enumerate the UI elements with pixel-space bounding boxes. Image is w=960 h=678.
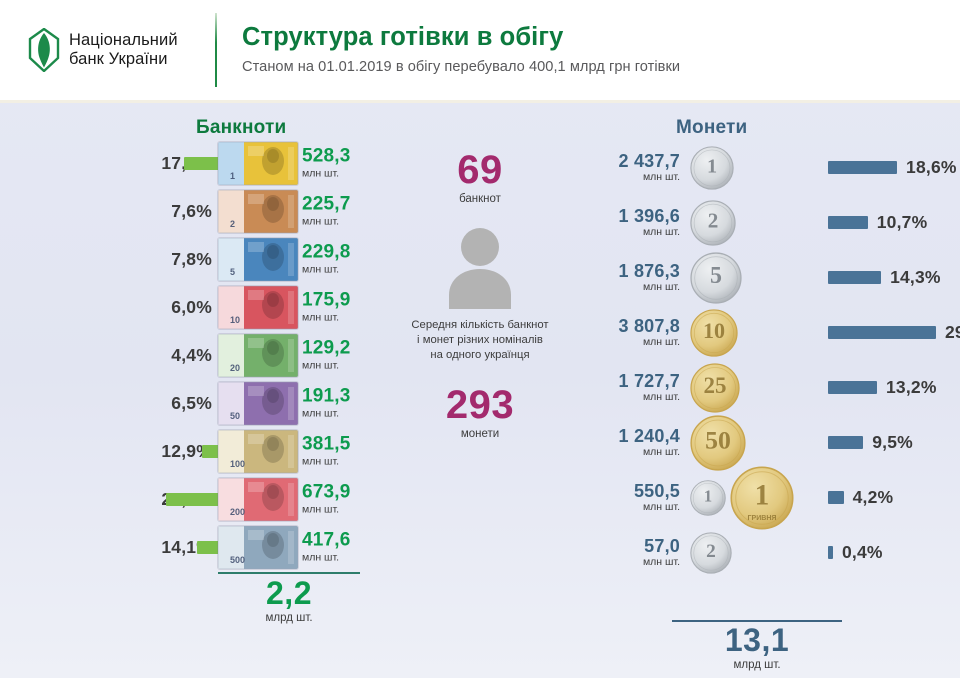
banknote-image-20: 20 <box>218 334 298 377</box>
svg-text:1: 1 <box>755 479 770 511</box>
coin-row: 2 437,7млн шт.118,6% <box>570 140 960 195</box>
banknote-unit: млн шт. <box>302 311 380 323</box>
avg-banknotes-label: банкнот <box>382 193 578 205</box>
banknote-value-block: 417,6млн шт. <box>302 531 380 564</box>
banknote-row: 7,6%2225,7млн шт. <box>0 188 380 234</box>
banknote-unit: млн шт. <box>302 407 380 419</box>
banknote-count: 673,9 <box>302 483 380 503</box>
avg-coins-block: 293 монети <box>382 385 578 440</box>
banknote-unit: млн шт. <box>302 215 380 227</box>
coin-bar <box>828 271 881 284</box>
banknote-image-2: 2 <box>218 190 298 233</box>
banknote-percent: 6,5% <box>62 393 212 414</box>
coin-count: 2 437,7 <box>570 152 680 171</box>
coin-value-block: 1 876,3млн шт. <box>570 262 680 294</box>
banknote-image-1: 1 <box>218 142 298 185</box>
svg-text:ГРИВНЯ: ГРИВНЯ <box>748 514 777 521</box>
banknote-image-5: 5 <box>218 238 298 281</box>
coin-row: 1 396,6млн шт.210,7% <box>570 195 960 250</box>
banknote-count: 191,3 <box>302 387 380 407</box>
coin-image-50: 50 <box>690 415 820 470</box>
nbu-logo: Національний банк України <box>28 28 203 72</box>
banknote-count: 129,2 <box>302 339 380 359</box>
coin-bar <box>828 546 833 559</box>
banknote-value-block: 191,3млн шт. <box>302 387 380 420</box>
coin-unit: млн шт. <box>570 501 680 513</box>
coin-row: 1 240,4млн шт.509,5% <box>570 415 960 470</box>
banknote-count: 381,5 <box>302 435 380 455</box>
coin-image-2: 2 <box>690 195 820 250</box>
coin-count: 57,0 <box>570 537 680 556</box>
coin-value-block: 550,5млн шт. <box>570 482 680 514</box>
svg-text:1: 1 <box>704 486 712 505</box>
banknote-value-block: 225,7млн шт. <box>302 195 380 228</box>
banknote-value-block: 175,9млн шт. <box>302 291 380 324</box>
coins-total-unit: млрд шт. <box>672 659 842 671</box>
banknote-row: 6,0%10175,9млн шт. <box>0 284 380 330</box>
svg-text:2: 2 <box>706 541 716 562</box>
coin-unit: млн шт. <box>570 391 680 403</box>
banknote-value-block: 528,3млн шт. <box>302 147 380 180</box>
banknotes-total-divider <box>218 572 360 574</box>
banknote-row: 7,8%5229,8млн шт. <box>0 236 380 282</box>
banknote-row: 17,9%1528,3млн шт. <box>0 140 380 186</box>
banknote-percent: 7,6% <box>62 201 212 222</box>
banknote-unit: млн шт. <box>302 167 380 179</box>
coin-row: 57,0млн шт.20,4% <box>570 525 960 580</box>
banknote-count: 528,3 <box>302 147 380 167</box>
svg-text:25: 25 <box>704 373 727 398</box>
banknote-image-10: 10 <box>218 286 298 329</box>
svg-text:5: 5 <box>710 263 722 289</box>
banknote-percent: 4,4% <box>62 345 212 366</box>
coin-percent: 13,2% <box>886 377 937 398</box>
coin-percent: 14,3% <box>890 267 941 288</box>
page-title: Структура готівки в обігу <box>242 23 680 52</box>
nbu-logo-icon <box>28 28 60 72</box>
banknote-unit: млн шт. <box>302 263 380 275</box>
coin-image-2: 2 <box>690 525 820 580</box>
banknote-percent: 14,1% <box>62 537 212 558</box>
svg-text:10: 10 <box>230 315 240 325</box>
banknote-count: 417,6 <box>302 531 380 551</box>
avg-coins-label: монети <box>382 428 578 440</box>
svg-text:50: 50 <box>705 425 731 454</box>
avg-caption-line-3: на одного українця <box>382 348 578 363</box>
svg-text:200: 200 <box>230 507 245 517</box>
coin-count: 1 876,3 <box>570 262 680 281</box>
avg-caption-line-2: і монет різних номіналів <box>382 333 578 348</box>
svg-text:50: 50 <box>230 411 240 421</box>
coin-unit: млн шт. <box>570 226 680 238</box>
banknotes-total-unit: млрд шт. <box>218 612 360 624</box>
svg-text:2: 2 <box>230 219 235 229</box>
coin-count: 1 396,6 <box>570 207 680 226</box>
banknote-unit: млн шт. <box>302 455 380 467</box>
coin-unit: млн шт. <box>570 446 680 458</box>
svg-text:20: 20 <box>230 363 240 373</box>
coin-value-block: 57,0млн шт. <box>570 537 680 569</box>
coin-unit: млн шт. <box>570 336 680 348</box>
banknote-percent: 12,9% <box>62 441 212 462</box>
banknote-count: 229,8 <box>302 243 380 263</box>
coin-image-10: 10 <box>690 305 820 360</box>
banknote-image-100: 100 <box>218 430 298 473</box>
coin-unit: млн шт. <box>570 171 680 183</box>
coins-total: 13,1 млрд шт. <box>672 623 842 671</box>
banknote-row: 4,4%20129,2млн шт. <box>0 332 380 378</box>
coin-value-block: 2 437,7млн шт. <box>570 152 680 184</box>
coin-count: 3 807,8 <box>570 317 680 336</box>
coin-count: 1 240,4 <box>570 427 680 446</box>
banknote-percent: 7,8% <box>62 249 212 270</box>
coin-value-block: 1 396,6млн шт. <box>570 207 680 239</box>
coin-count: 550,5 <box>570 482 680 501</box>
svg-text:10: 10 <box>703 317 725 342</box>
coins-column: 2 437,7млн шт.118,6%1 396,6млн шт.210,7%… <box>570 140 960 580</box>
coin-image-1: 1 <box>690 140 820 195</box>
avg-caption: Середня кількість банкнот і монет різних… <box>382 318 578 363</box>
banknote-row: 14,1%500417,6млн шт. <box>0 524 380 570</box>
banknote-row: 12,9%100381,5млн шт. <box>0 428 380 474</box>
svg-text:500: 500 <box>230 555 245 565</box>
nbu-logo-text: Національний банк України <box>69 31 178 69</box>
coin-value-block: 1 240,4млн шт. <box>570 427 680 459</box>
coin-bar <box>828 161 897 174</box>
banknotes-heading: Банкноти <box>196 117 286 139</box>
page-subtitle: Станом на 01.01.2019 в обігу перебувало … <box>242 59 680 75</box>
coin-value-block: 1 727,7млн шт. <box>570 372 680 404</box>
person-silhouette-icon <box>445 227 515 309</box>
svg-text:1: 1 <box>707 155 717 177</box>
svg-text:1: 1 <box>230 171 235 181</box>
header-divider <box>215 13 217 87</box>
coin-percent: 0,4% <box>842 542 883 563</box>
banknote-count: 175,9 <box>302 291 380 311</box>
banknote-percent: 6,0% <box>62 297 212 318</box>
coin-unit: млн шт. <box>570 556 680 568</box>
coin-percent: 29,1% <box>945 322 960 343</box>
page-header: Національний банк України Структура готі… <box>0 0 960 100</box>
coin-row: 1 727,7млн шт.2513,2% <box>570 360 960 415</box>
coin-unit: млн шт. <box>570 281 680 293</box>
coin-percent: 9,5% <box>872 432 913 453</box>
avg-coins-count: 293 <box>382 385 578 425</box>
banknote-count: 225,7 <box>302 195 380 215</box>
svg-text:100: 100 <box>230 459 245 469</box>
coin-row: 1 876,3млн шт.514,3% <box>570 250 960 305</box>
logo-line-2: банк України <box>69 50 178 69</box>
banknote-image-50: 50 <box>218 382 298 425</box>
coin-row: 3 807,8млн шт.1029,1% <box>570 305 960 360</box>
coin-count: 1 727,7 <box>570 372 680 391</box>
coins-heading: Монети <box>676 117 747 139</box>
title-block: Структура готівки в обігу Станом на 01.0… <box>242 23 680 77</box>
banknote-row: 22,8%200673,9млн шт. <box>0 476 380 522</box>
coins-total-value: 13,1 <box>672 623 842 658</box>
coin-value-block: 3 807,8млн шт. <box>570 317 680 349</box>
banknote-unit: млн шт. <box>302 359 380 371</box>
center-column: 69 банкнот Середня кількість банкнот і м… <box>382 150 578 440</box>
banknotes-column: 17,9%1528,3млн шт.7,6%2225,7млн шт.7,8%5… <box>0 140 380 572</box>
svg-text:2: 2 <box>708 208 719 232</box>
coin-row: 550,5млн шт.11ГРИВНЯ4,2% <box>570 470 960 525</box>
coin-percent: 18,6% <box>906 157 957 178</box>
banknote-value-block: 673,9млн шт. <box>302 483 380 516</box>
logo-line-1: Національний <box>69 31 178 50</box>
coin-bar <box>828 491 844 504</box>
header-rule <box>0 100 960 103</box>
banknote-value-block: 129,2млн шт. <box>302 339 380 372</box>
banknote-unit: млн шт. <box>302 503 380 515</box>
banknote-row: 6,5%50191,3млн шт. <box>0 380 380 426</box>
coin-image-1: 11ГРИВНЯ <box>690 470 820 525</box>
banknote-image-500: 500 <box>218 526 298 569</box>
coin-percent: 10,7% <box>877 212 928 233</box>
avg-caption-line-1: Середня кількість банкнот <box>382 318 578 333</box>
banknotes-total: 2,2 млрд шт. <box>218 576 360 624</box>
banknote-value-block: 229,8млн шт. <box>302 243 380 276</box>
coin-image-5: 5 <box>690 250 820 305</box>
svg-text:5: 5 <box>230 267 235 277</box>
coin-bar <box>828 326 936 339</box>
coin-bar <box>828 216 868 229</box>
coin-bar <box>828 381 877 394</box>
banknote-value-block: 381,5млн шт. <box>302 435 380 468</box>
infographic-page: Національний банк України Структура готі… <box>0 0 960 678</box>
coin-percent: 4,2% <box>853 487 894 508</box>
coin-bar <box>828 436 863 449</box>
banknote-image-200: 200 <box>218 478 298 521</box>
coin-image-25: 25 <box>690 360 820 415</box>
banknote-unit: млн шт. <box>302 551 380 563</box>
banknotes-total-value: 2,2 <box>218 576 360 611</box>
avg-banknotes-count: 69 <box>382 150 578 190</box>
